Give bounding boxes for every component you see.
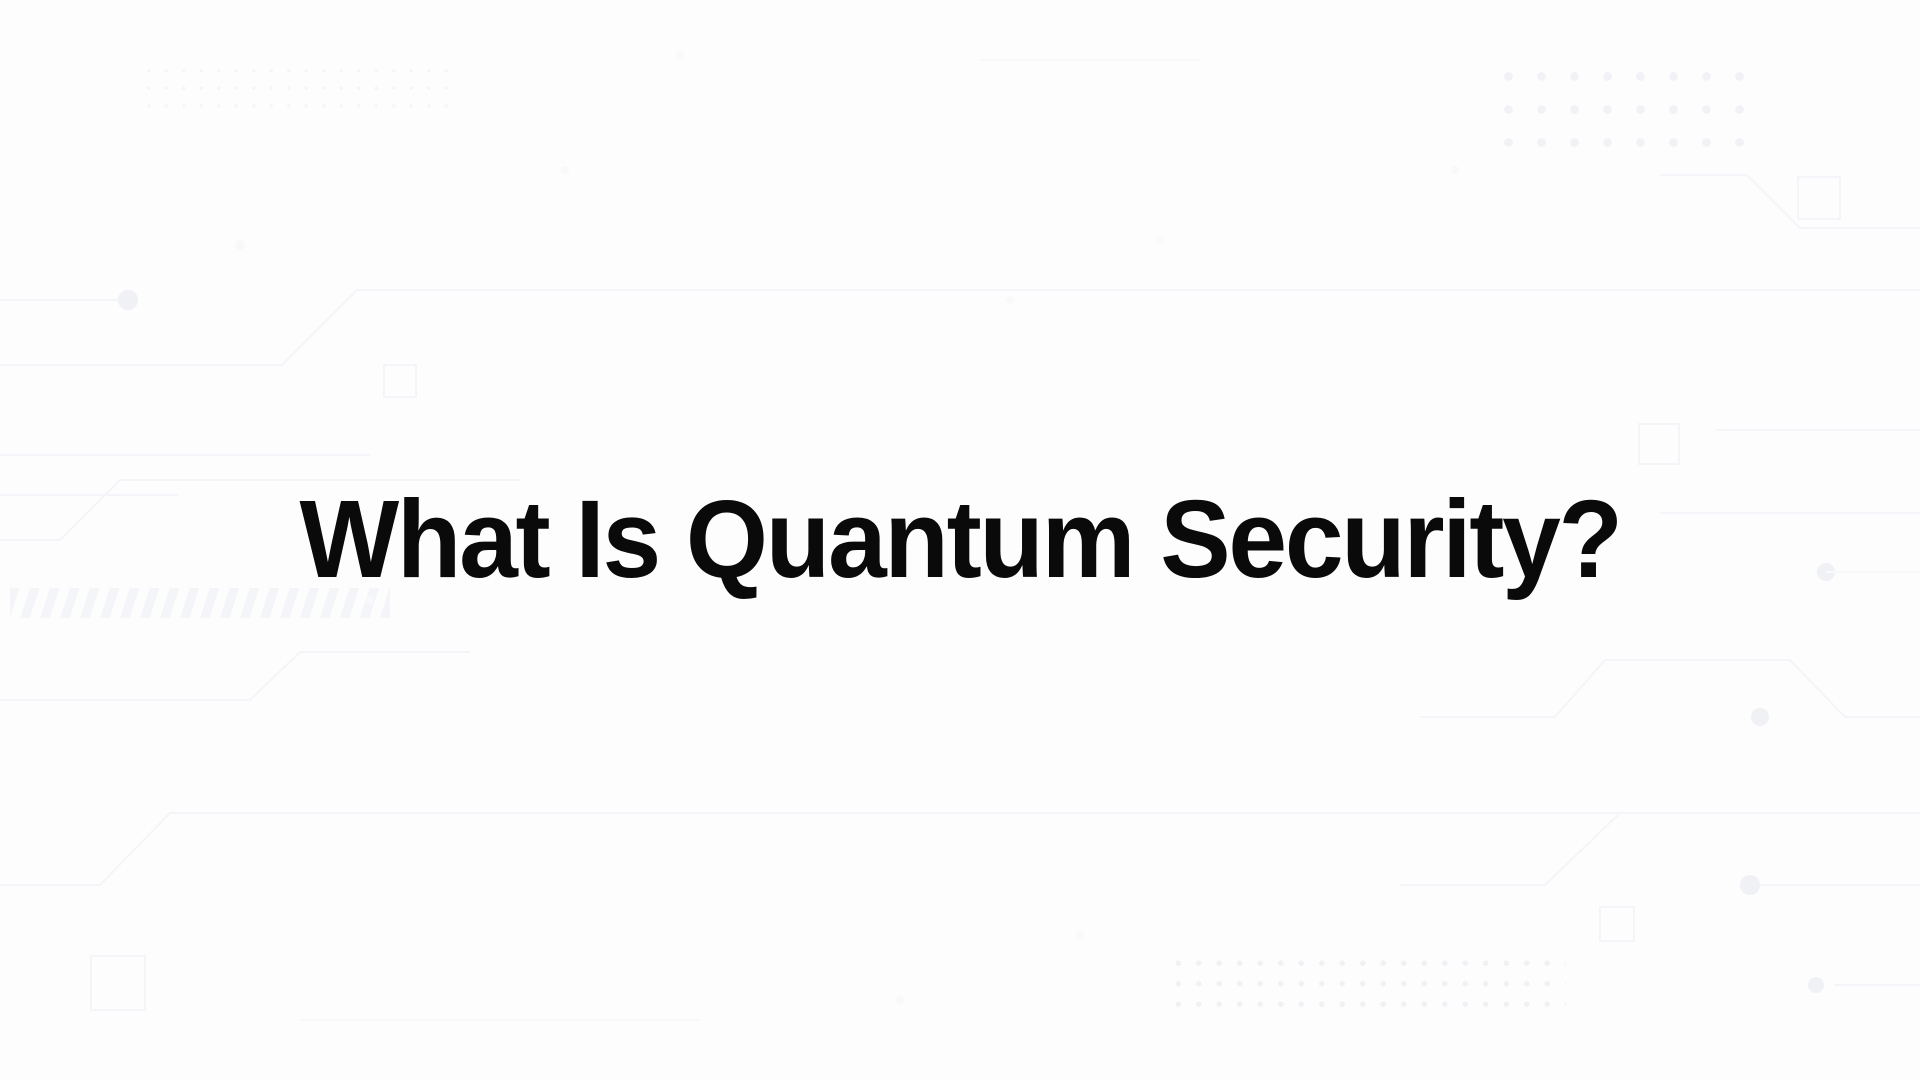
page-title: What Is Quantum Security? (299, 482, 1620, 598)
title-slide: What Is Quantum Security? (0, 0, 1920, 1080)
title-container: What Is Quantum Security? (0, 0, 1920, 1080)
